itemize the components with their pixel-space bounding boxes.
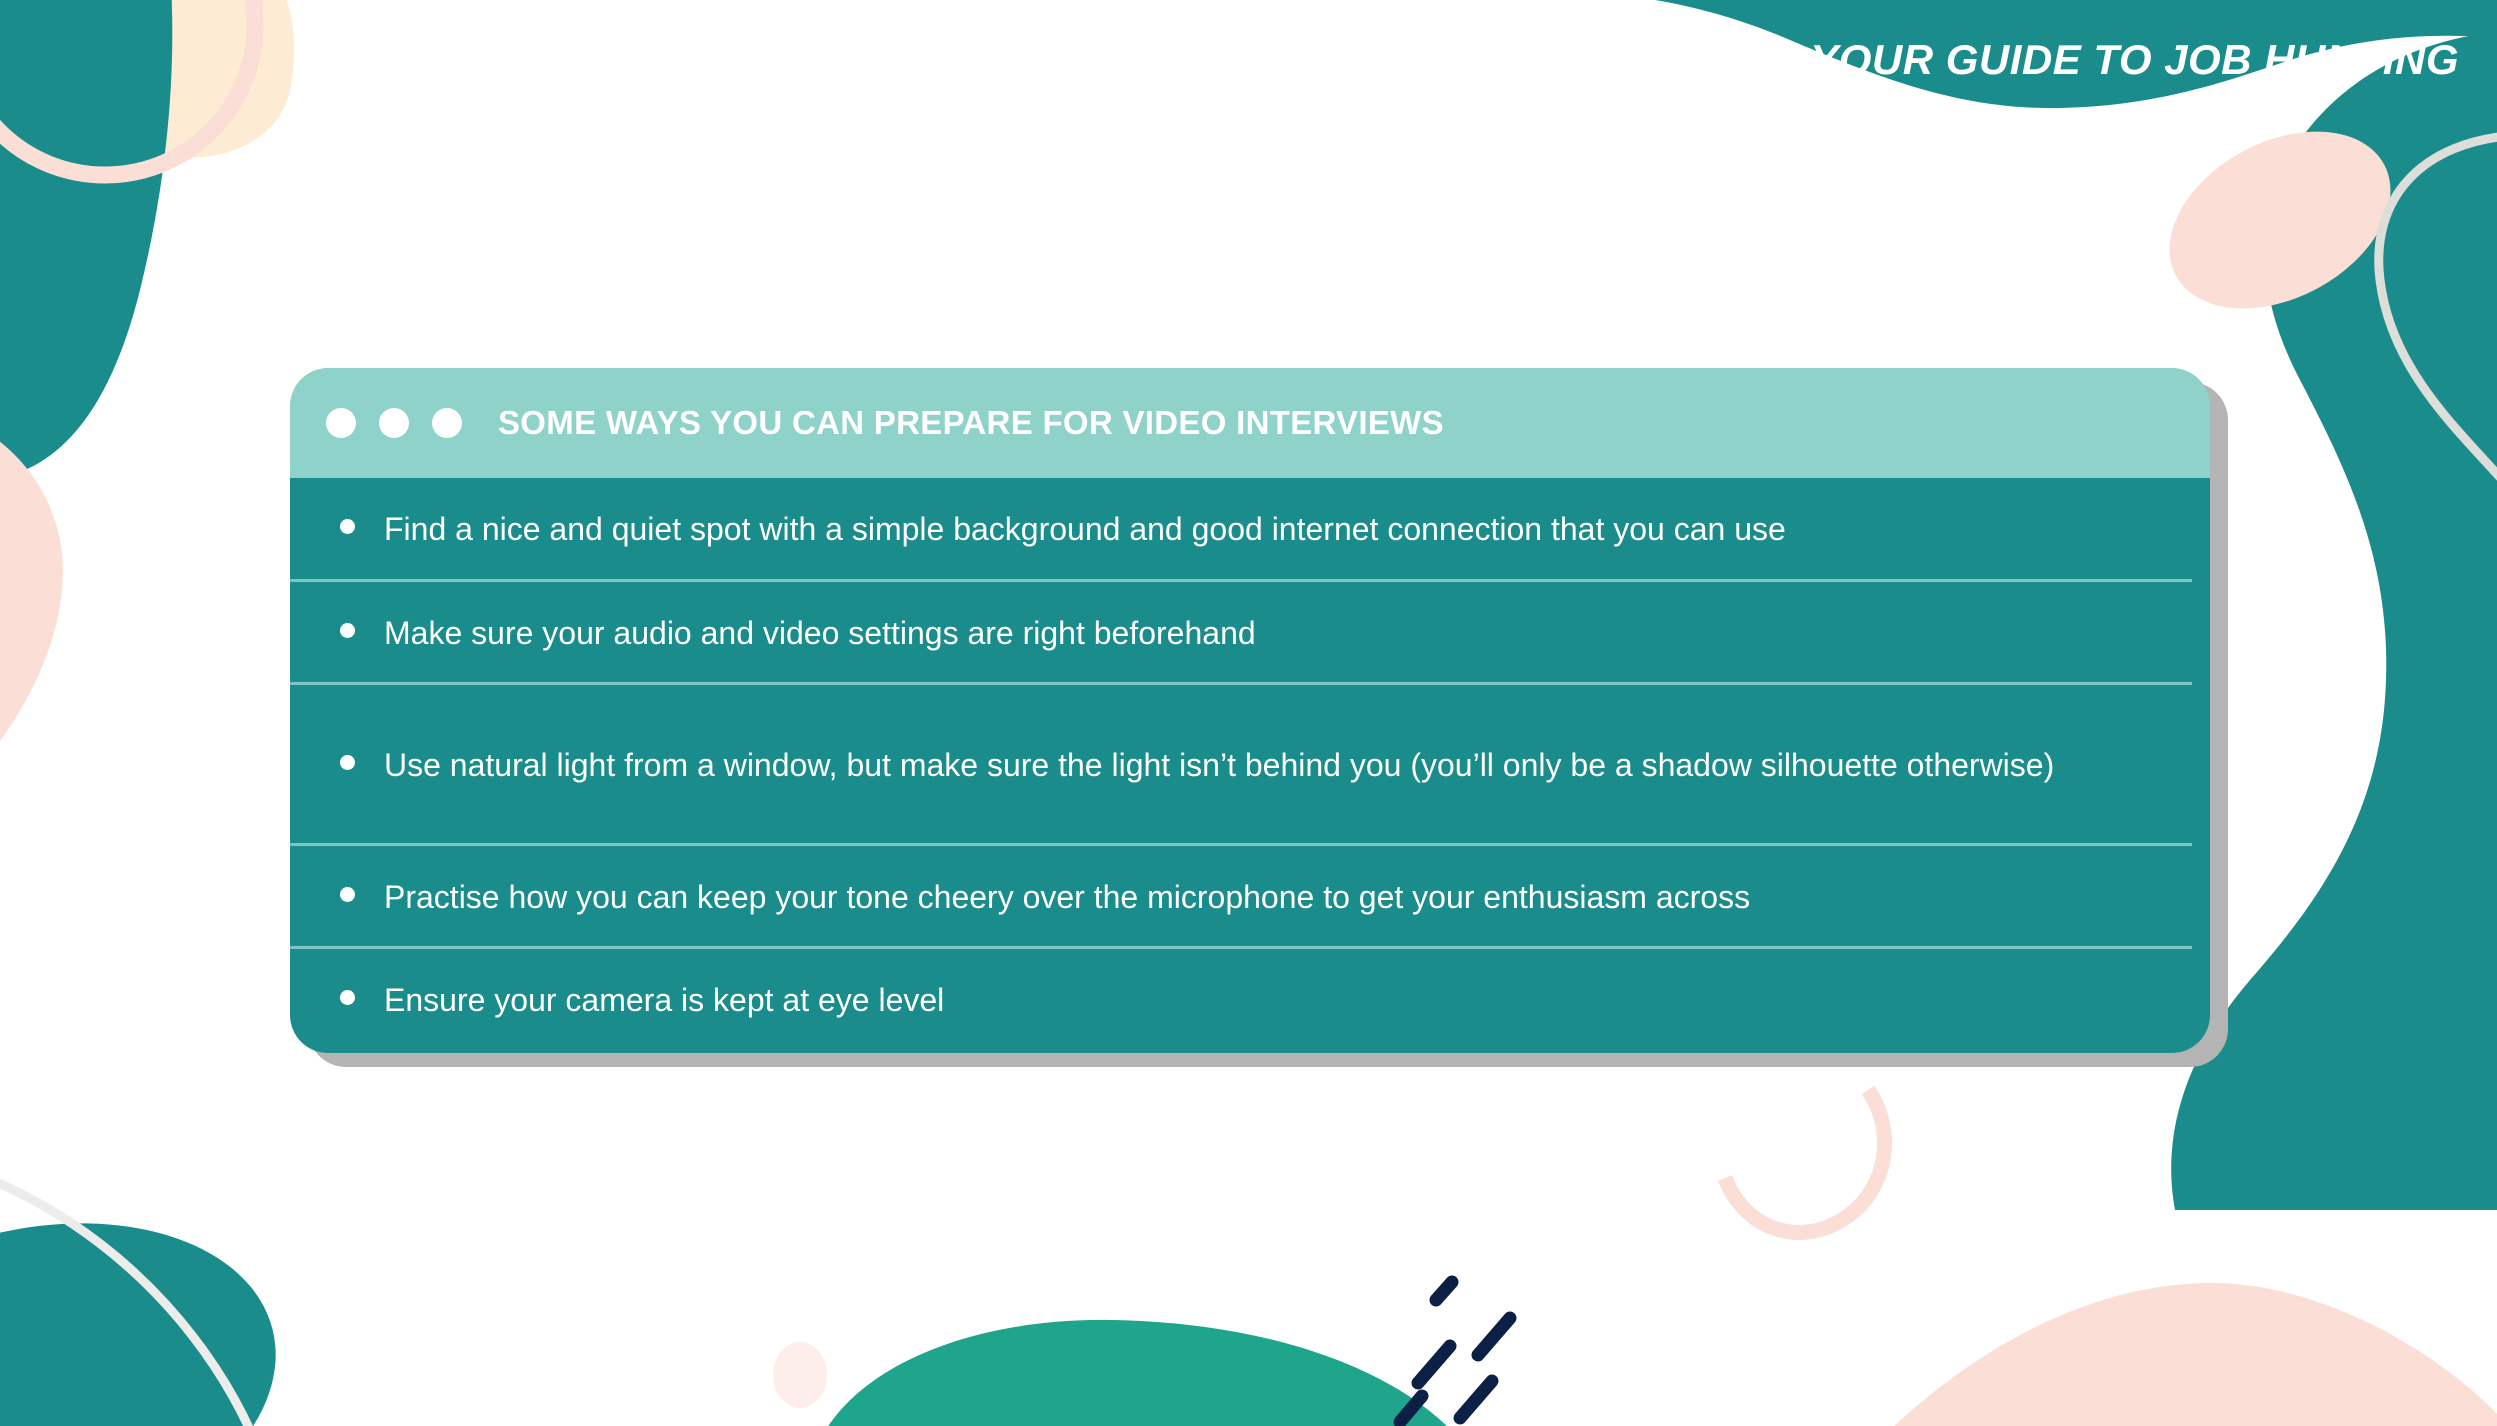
teal-ellipse-bottom-left [0, 1174, 311, 1426]
pink-blob-left [0, 394, 63, 861]
navy-dash-4 [1400, 1396, 1422, 1422]
gray-arc-bottom-left [0, 1150, 250, 1426]
card-title: SOME WAYS YOU CAN PREPARE FOR VIDEO INTE… [498, 404, 1444, 442]
banner-title: COVID-19: YOUR GUIDE TO JOB HUNTING [1587, 36, 2459, 84]
bullet-dot-icon [340, 623, 355, 638]
tip-text: Practise how you can keep your tone chee… [384, 875, 1750, 920]
tips-card: SOME WAYS YOU CAN PREPARE FOR VIDEO INTE… [290, 368, 2210, 1053]
bullet-dot-icon [340, 519, 355, 534]
bullet-dot-icon [340, 990, 355, 1005]
bullet-dot-icon [340, 755, 355, 770]
gray-curve-right [2379, 135, 2497, 500]
tip-row: Use natural light from a window, but mak… [290, 685, 2210, 846]
window-dot-1[interactable] [326, 408, 356, 438]
teal-blob-top-left [0, 0, 172, 481]
window-dot-2[interactable] [379, 408, 409, 438]
pink-ring-top-left [0, 0, 255, 175]
tip-text: Make sure your audio and video settings … [384, 611, 1256, 656]
green-blob-bottom-center [820, 1320, 1460, 1426]
window-dots [326, 408, 462, 438]
tip-row: Make sure your audio and video settings … [290, 582, 2210, 686]
pink-blob-bottom-right [1880, 1283, 2497, 1426]
pink-ellipse-right [2139, 96, 2421, 345]
tip-text: Use natural light from a window, but mak… [384, 743, 2054, 788]
tip-row: Find a nice and quiet spot with a simple… [290, 478, 2210, 582]
navy-dash-5 [1436, 1282, 1452, 1300]
pink-arc-bottom-right [1725, 1090, 1885, 1233]
pale-pink-circle-bottom [773, 1342, 827, 1408]
card-header: SOME WAYS YOU CAN PREPARE FOR VIDEO INTE… [290, 368, 2210, 478]
card-body: Find a nice and quiet spot with a simple… [290, 478, 2210, 1053]
navy-dashes [1400, 1282, 1510, 1422]
bullet-dot-icon [340, 887, 355, 902]
tip-text: Find a nice and quiet spot with a simple… [384, 507, 1786, 552]
tip-row: Ensure your camera is kept at eye level [290, 949, 2210, 1053]
navy-dash-1 [1478, 1318, 1510, 1355]
peach-blob-top-left [103, 0, 294, 158]
tip-text: Ensure your camera is kept at eye level [384, 978, 944, 1023]
navy-dash-2 [1418, 1346, 1450, 1383]
window-dot-3[interactable] [432, 408, 462, 438]
navy-dash-3 [1460, 1381, 1492, 1418]
slide-canvas: COVID-19: YOUR GUIDE TO JOB HUNTING SOME… [0, 0, 2497, 1426]
tip-row: Practise how you can keep your tone chee… [290, 846, 2210, 950]
